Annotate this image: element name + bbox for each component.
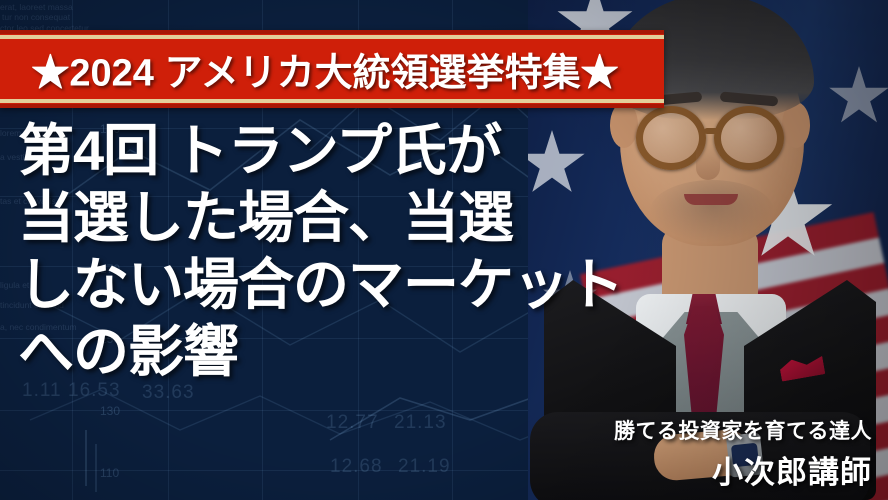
headline-line-3: しない場合のマーケット [18,256,738,313]
background-axis-label: 110 [100,466,119,480]
banner-title: ★2024 アメリカ大統領選挙特集★ [0,42,664,97]
headline-line-4: への影響 [18,323,738,380]
banner-rule-top [0,35,664,39]
presenter-credit: 勝てる投資家を育てる達人 小次郎講師 [614,415,872,492]
background-number: 12.68 [330,456,383,478]
headline-line-1: 第4回 トランプ氏が [18,122,738,179]
headline: 第4回 トランプ氏が 当選した場合、当選 しない場合のマーケット への影響 [18,122,738,390]
banner-rule-bottom [0,99,664,103]
thumbnail-canvas: 190 170 150 130 110 1.11 16.53 33.63 12.… [0,0,888,500]
series-banner: ★2024 アメリカ大統領選挙特集★ [0,30,664,108]
headline-line-2: 当選した場合、当選 [18,189,738,246]
presenter-name: 小次郎講師 [614,447,872,492]
presenter-tagline: 勝てる投資家を育てる達人 [614,415,872,445]
background-number: 12.77 [326,412,379,434]
background-text: tur non consequat [2,12,182,23]
background-number: 21.13 [394,412,447,434]
background-number: 21.19 [398,456,451,478]
background-axis-label: 130 [100,404,120,418]
